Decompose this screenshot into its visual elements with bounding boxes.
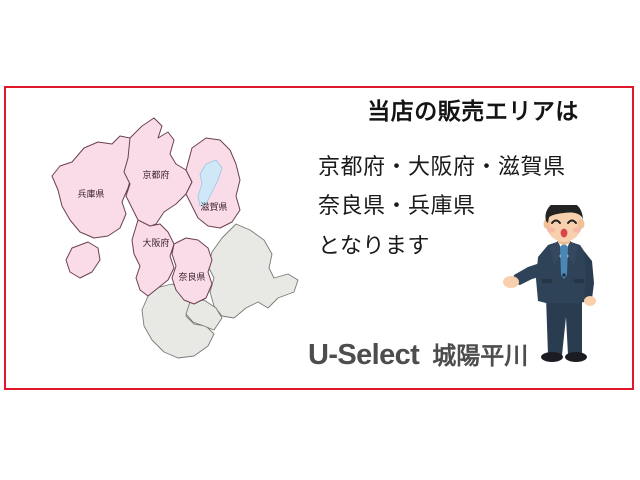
person-mouth: [561, 229, 568, 238]
kansai-region-map: 兵庫県 京都府 滋賀県 大阪府 奈良県: [36, 102, 311, 377]
person-pocket-right: [574, 279, 584, 283]
person-right-hand: [584, 296, 596, 306]
map-region-osaka: [132, 220, 174, 296]
map-region-awaji: [66, 242, 100, 278]
logo-brand-name: U-Select: [308, 339, 419, 372]
map-svg: 兵庫県 京都府 滋賀県 大阪府 奈良県: [36, 102, 311, 377]
person-cheek-right: [573, 227, 581, 232]
map-label-kyoto: 京都府: [142, 169, 169, 180]
map-region-mie: [208, 224, 298, 318]
map-label-shiga: 滋賀県: [200, 201, 227, 212]
person-trousers: [546, 297, 582, 355]
red-frame-border: 兵庫県 京都府 滋賀県 大阪府 奈良県 当店の販売エリアは 京都府・大阪府・滋賀…: [4, 86, 634, 390]
map-label-osaka: 大阪府: [142, 237, 169, 248]
salesman-svg: [502, 205, 622, 377]
dealer-logo: U-Select 城陽平川: [308, 336, 528, 372]
person-hand: [503, 276, 519, 288]
person-cheek-left: [547, 227, 555, 232]
map-label-hyogo: 兵庫県: [77, 188, 104, 199]
person-pocket-left: [542, 279, 552, 283]
area-line-1: 京都府・大阪府・滋賀県: [318, 156, 626, 178]
map-region-hyogo: [52, 136, 134, 238]
sales-area-banner: 兵庫県 京都府 滋賀県 大阪府 奈良県 当店の販売エリアは 京都府・大阪府・滋賀…: [0, 0, 640, 480]
salesman-illustration: [502, 205, 622, 377]
page-title: 当店の販売エリアは: [306, 98, 626, 126]
map-label-nara: 奈良県: [178, 271, 205, 282]
person-shoe-right: [565, 352, 587, 362]
person-shoe-left: [541, 352, 563, 362]
person-button: [562, 273, 565, 276]
person-ear-right: [578, 219, 585, 229]
